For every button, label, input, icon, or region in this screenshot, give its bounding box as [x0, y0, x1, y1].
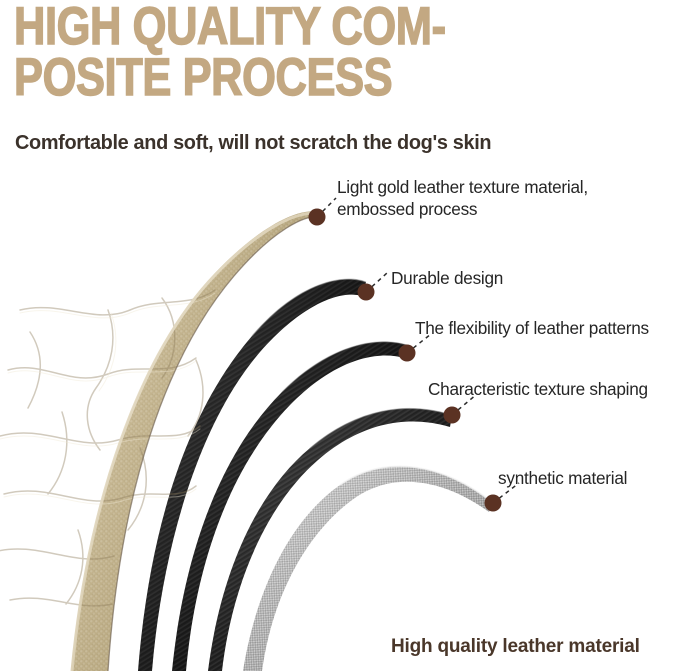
callout-dot-gold-leather[interactable]	[309, 209, 326, 226]
callout-dot-texture-shaping[interactable]	[444, 407, 461, 424]
callout-label-texture-shaping: Characteristic texture shaping	[428, 378, 648, 400]
callout-dots	[309, 209, 502, 512]
footer-caption: High quality leather material	[391, 636, 640, 658]
callout-label-synthetic-material: synthetic material	[498, 467, 627, 489]
callout-label-durable-design: Durable design	[391, 267, 503, 289]
callout-dot-synthetic-material[interactable]	[485, 495, 502, 512]
callout-label-leather-flexibility: The flexibility of leather patterns	[415, 317, 649, 339]
callout-dot-leather-flexibility[interactable]	[399, 345, 416, 362]
callout-dot-durable-design[interactable]	[358, 284, 375, 301]
product-infographic: HIGH QUALITY COM- POSITE PROCESS Comfort…	[0, 0, 679, 671]
callout-label-gold-leather: Light gold leather texture material, emb…	[337, 176, 588, 220]
